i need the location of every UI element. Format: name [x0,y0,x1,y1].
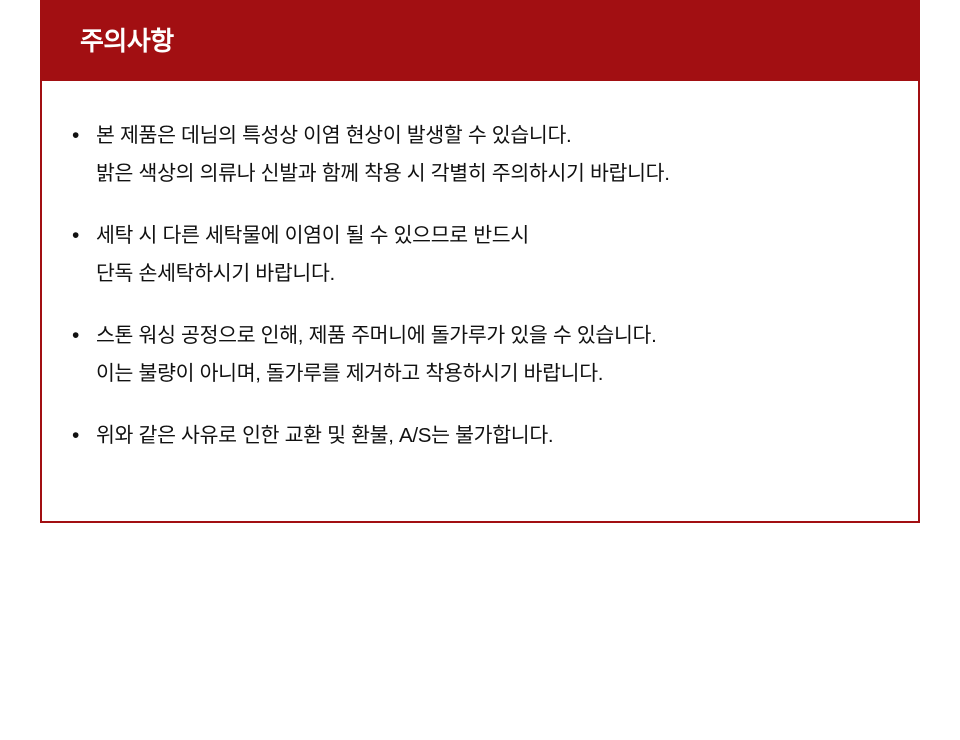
bullet-dot-icon: • [72,217,79,255]
list-item: • 스톤 워싱 공정으로 인해, 제품 주머니에 돌가루가 있을 수 있습니다.… [66,317,898,393]
notice-bullet-list: • 본 제품은 데님의 특성상 이염 현상이 발생할 수 있습니다. 밝은 색상… [66,117,898,455]
list-item-line: 스톤 워싱 공정으로 인해, 제품 주머니에 돌가루가 있을 수 있습니다. [96,317,898,355]
list-item-line: 단독 손세탁하시기 바랍니다. [96,255,898,293]
notice-header: 주의사항 [40,0,920,81]
list-item-line: 세탁 시 다른 세탁물에 이염이 될 수 있으므로 반드시 [96,217,898,255]
page-title: 주의사항 [80,28,174,54]
bullet-dot-icon: • [72,317,79,355]
bullet-dot-icon: • [72,417,79,455]
list-item-line: 본 제품은 데님의 특성상 이염 현상이 발생할 수 있습니다. [96,117,898,155]
list-item: • 세탁 시 다른 세탁물에 이염이 될 수 있으므로 반드시 단독 손세탁하시… [66,217,898,293]
notice-card: 주의사항 • 본 제품은 데님의 특성상 이염 현상이 발생할 수 있습니다. … [40,0,920,523]
list-item-line: 밝은 색상의 의류나 신발과 함께 착용 시 각별히 주의하시기 바랍니다. [96,155,898,193]
list-item-line: 이는 불량이 아니며, 돌가루를 제거하고 착용하시기 바랍니다. [96,355,898,393]
bullet-dot-icon: • [72,117,79,155]
list-item: • 본 제품은 데님의 특성상 이염 현상이 발생할 수 있습니다. 밝은 색상… [66,117,898,193]
list-item-line: 위와 같은 사유로 인한 교환 및 환불, A/S는 불가합니다. [96,417,898,455]
list-item: • 위와 같은 사유로 인한 교환 및 환불, A/S는 불가합니다. [66,417,898,455]
notice-body: • 본 제품은 데님의 특성상 이염 현상이 발생할 수 있습니다. 밝은 색상… [40,81,920,523]
